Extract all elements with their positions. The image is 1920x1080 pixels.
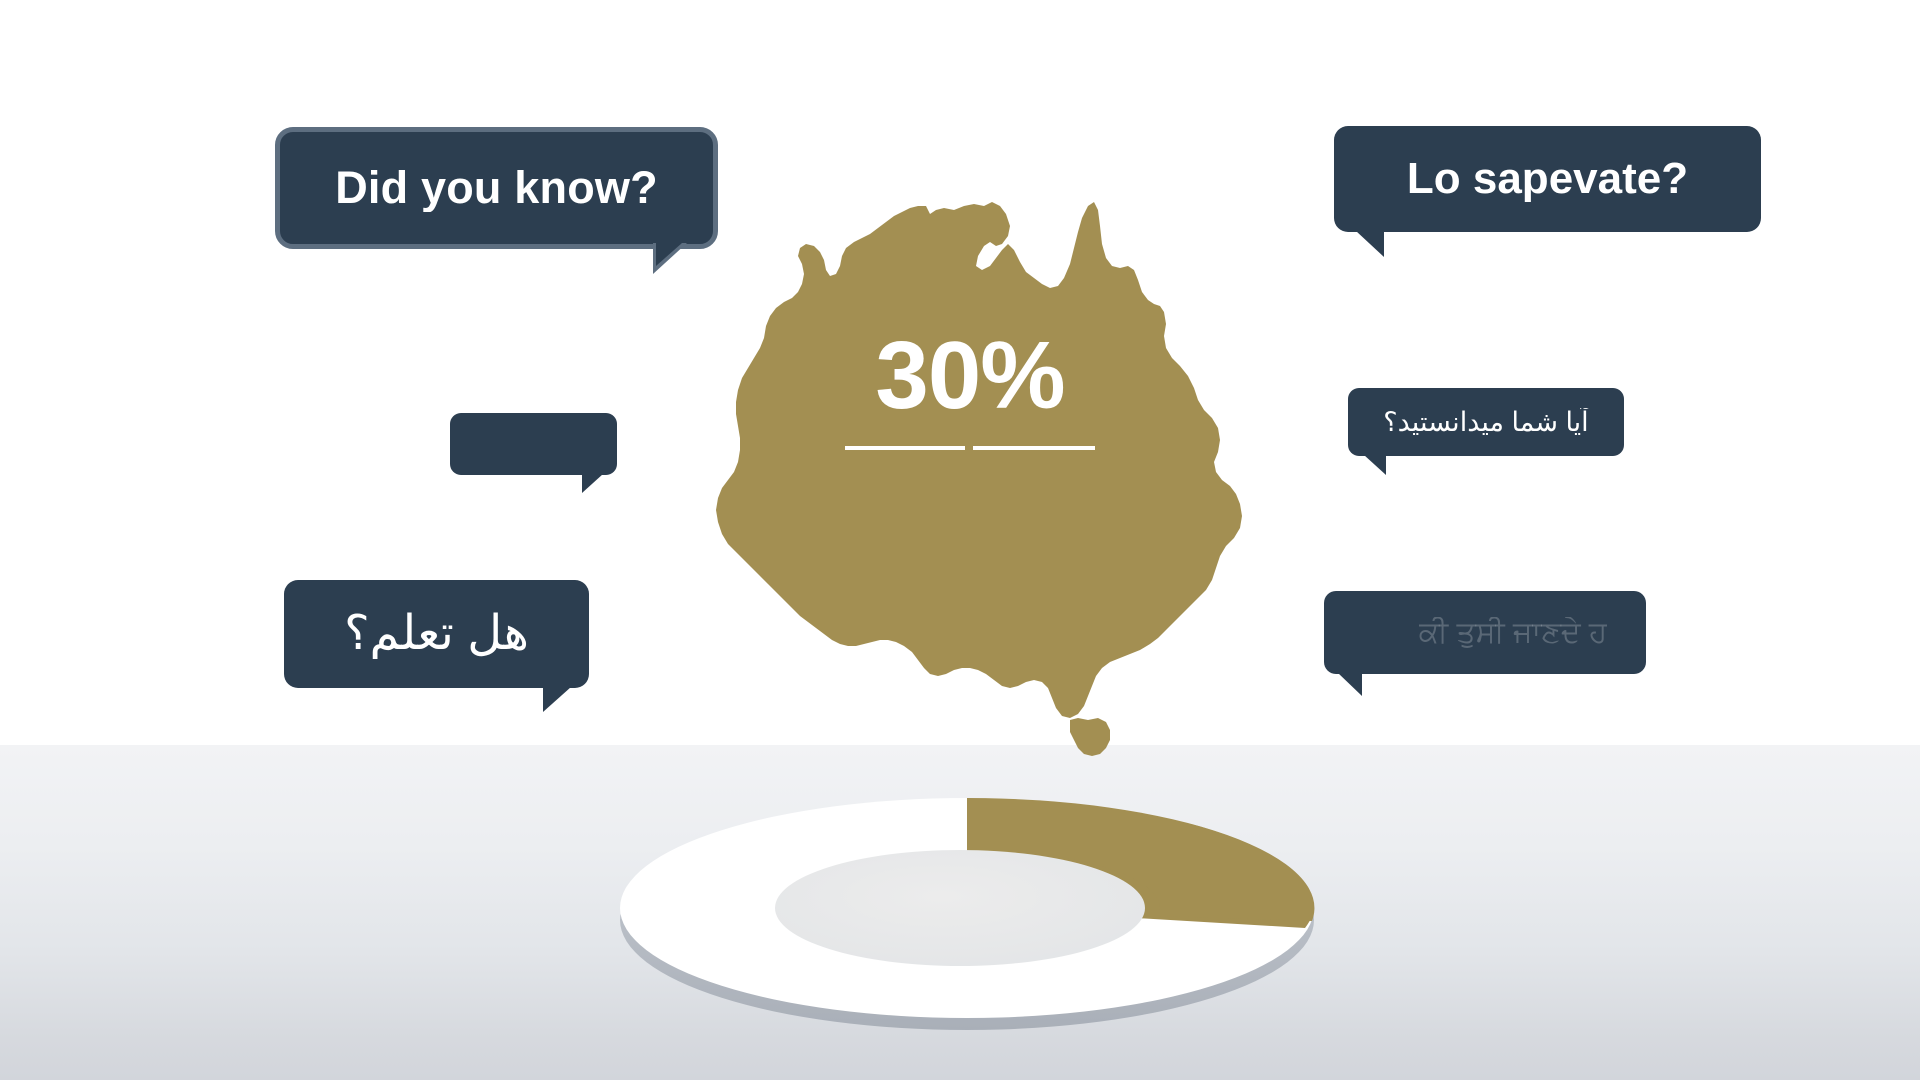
speech-bubble-did-you-know[interactable]: Did you know? <box>275 127 718 249</box>
speech-bubble-label: Did you know? <box>335 164 658 211</box>
speech-bubble-lo-sapevate[interactable]: Lo sapevate? <box>1334 126 1761 232</box>
speech-bubble-label: Lo sapevate? <box>1407 156 1688 202</box>
speech-bubble-label: ਕੀ ਤੁਸੀ ਜਾਣਦੇ ਹ <box>1419 617 1608 649</box>
tasmania-silhouette-path <box>1070 718 1110 756</box>
slide-canvas: Did you know? Lo sapevate? آیا شما میدان… <box>0 0 1920 1080</box>
australia-map: 30% <box>678 200 1262 760</box>
donut-chart-3d <box>612 788 1322 1048</box>
speech-bubble-empty[interactable] <box>450 413 617 475</box>
speech-bubble-persian[interactable]: آیا شما میدانستید؟ <box>1348 388 1624 456</box>
speech-bubble-label: آیا شما میدانستید؟ <box>1383 408 1588 436</box>
speech-bubble-punjabi[interactable]: ਕੀ ਤੁਸੀ ਜਾਣਦੇ ਹ <box>1324 591 1646 674</box>
speech-bubble-arabic[interactable]: هل تعلم؟ <box>284 580 589 688</box>
speech-bubble-label: هل تعلم؟ <box>344 609 529 659</box>
donut-hole <box>775 850 1145 966</box>
australia-silhouette-path <box>716 202 1242 718</box>
